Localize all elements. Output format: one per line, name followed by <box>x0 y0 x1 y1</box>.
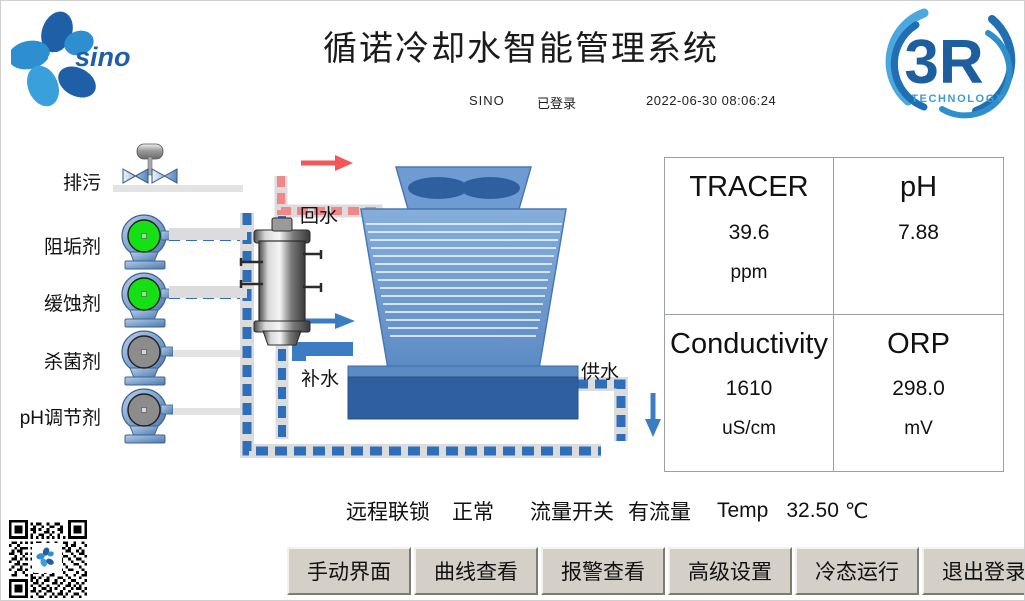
tower-fill-louvers <box>366 224 562 336</box>
supply-flow-arrow <box>645 393 661 437</box>
measurement-name: pH <box>900 172 937 204</box>
measurement-cell-orp: ORP 298.0 mV <box>834 315 1003 472</box>
measurement-panel: TRACER 39.6 ppm pH 7.88 Conductivity 161… <box>664 157 1004 472</box>
measurement-value: 39.6 <box>729 221 770 245</box>
button-alarm-view[interactable]: 报警查看 <box>541 547 665 595</box>
pipe-label-return: 回水 <box>300 201 338 228</box>
button-manual-screen[interactable]: 手动界面 <box>287 547 411 595</box>
measurement-cell-ph: pH 7.88 <box>834 158 1003 315</box>
measurement-name: Conductivity <box>670 329 828 361</box>
header-user: SINO <box>469 93 505 108</box>
process-diagram: 排污 阻垢剂 缓蚀剂 杀菌剂 pH调节剂 <box>1 121 661 481</box>
measurement-unit: ppm <box>731 262 768 284</box>
hmi-screen: sino 循诺冷却水智能管理系统 SINO 已登录 2022-06-30 08:… <box>0 0 1025 601</box>
status-unit-temp: ℃ <box>845 499 869 524</box>
tower-fan-blade-right <box>460 177 520 199</box>
return-flow-arrow <box>301 155 353 171</box>
measurement-unit: mV <box>904 418 933 440</box>
button-cold-run[interactable]: 冷态运行 <box>795 547 919 595</box>
status-label-remote-interlock: 远程联锁 <box>346 496 430 526</box>
header-login-state: 已登录 <box>537 93 576 112</box>
measurement-value: 298.0 <box>892 377 945 401</box>
measurement-value: 7.88 <box>898 221 939 245</box>
button-bar: 手动界面 曲线查看 报警查看 高级设置 冷态运行 退出登录 <box>287 547 1025 595</box>
header: sino 循诺冷却水智能管理系统 SINO 已登录 2022-06-30 08:… <box>1 1 1025 121</box>
makeup-water-pipe <box>299 349 353 361</box>
measurement-cell-conductivity: Conductivity 1610 uS/cm <box>665 315 834 472</box>
tower-basin <box>348 377 578 419</box>
status-label-temp: Temp <box>717 499 768 523</box>
header-datetime: 2022-06-30 08:06:24 <box>646 93 776 108</box>
measurement-unit: uS/cm <box>722 418 776 440</box>
button-logout[interactable]: 退出登录 <box>922 547 1025 595</box>
measurement-cell-tracer: TRACER 39.6 ppm <box>665 158 834 315</box>
measurement-name: TRACER <box>689 172 808 204</box>
pipe-network <box>1 121 661 481</box>
measurement-value: 1610 <box>726 377 773 401</box>
vendor-logo-3r: 3R TECHNOLOGY <box>872 3 1020 121</box>
qr-center-logo <box>32 543 62 573</box>
status-label-flow-switch: 流量开关 <box>530 496 614 526</box>
status-value-flow-switch: 有流量 <box>628 496 691 526</box>
status-row: 远程联锁 正常 流量开关 有流量 Temp 32.50 ℃ <box>346 494 1016 528</box>
button-trend-view[interactable]: 曲线查看 <box>414 547 538 595</box>
sino-wordmark: sino <box>75 42 131 72</box>
measurement-name: ORP <box>887 329 950 361</box>
tower-fan-blade-left <box>408 177 468 199</box>
sino-logo: sino <box>11 11 141 111</box>
vendor-logo-subtext: TECHNOLOGY <box>911 93 1005 105</box>
vendor-logo-text: 3R <box>904 28 983 97</box>
pipe-label-makeup: 补水 <box>301 364 339 391</box>
pipe-label-supply: 供水 <box>581 357 619 384</box>
status-value-temp: 32.50 <box>786 499 839 523</box>
button-advanced-settings[interactable]: 高级设置 <box>668 547 792 595</box>
status-value-remote-interlock: 正常 <box>452 496 494 526</box>
page-title: 循诺冷却水智能管理系统 <box>241 21 801 70</box>
